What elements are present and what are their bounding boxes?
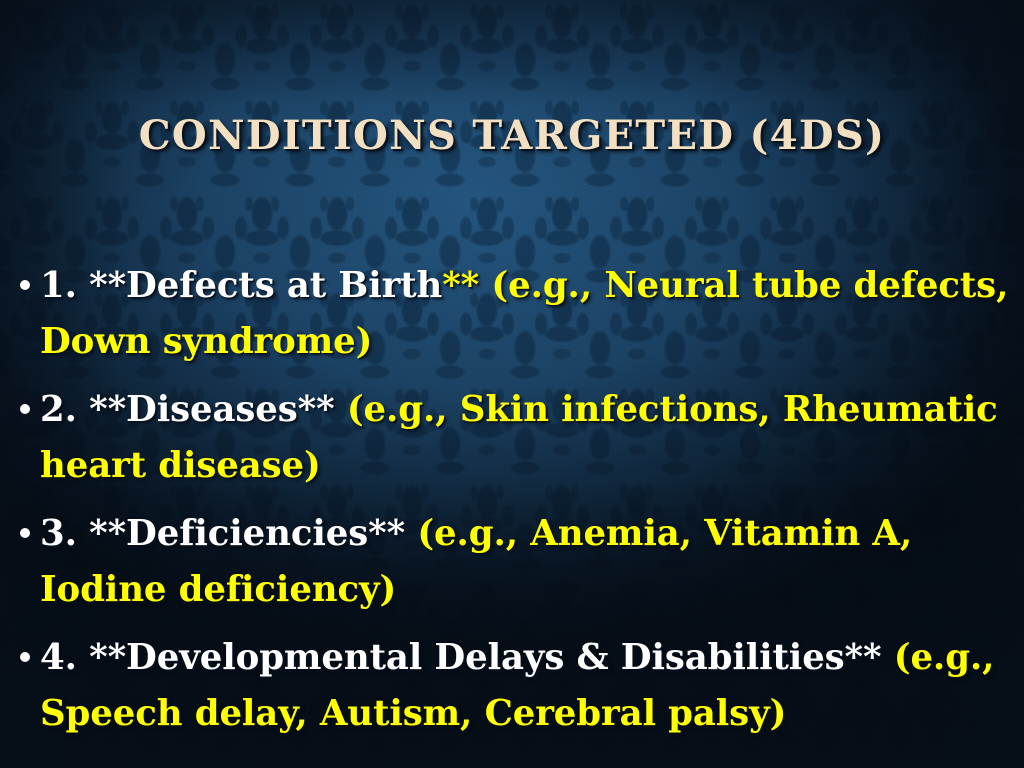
list-item: 3. **Deficiencies** (e.g., Anemia, Vitam… bbox=[10, 506, 1020, 618]
list-item: 2. **Diseases** (e.g., Skin infections, … bbox=[10, 382, 1020, 494]
bullet-list: 1. **Defects at Birth** (e.g., Neural tu… bbox=[10, 258, 1020, 754]
bullet-bold-text: 2. **Diseases** bbox=[40, 389, 347, 430]
presentation-slide: CONDITIONS TARGETED (4DS) 1. **Defects a… bbox=[0, 0, 1024, 768]
bullet-bold-text: 4. **Developmental Delays & Disabilities… bbox=[40, 637, 894, 678]
bullet-bold-text: 1. **Defects at Birth bbox=[40, 265, 442, 306]
bullet-marker-icon bbox=[20, 652, 30, 662]
bullet-marker-icon bbox=[20, 404, 30, 414]
bullet-marker-icon bbox=[20, 528, 30, 538]
slide-content: CONDITIONS TARGETED (4DS) 1. **Defects a… bbox=[0, 0, 1024, 768]
list-item: 4. **Developmental Delays & Disabilities… bbox=[10, 630, 1020, 742]
bullet-bold-text: 3. **Deficiencies** bbox=[40, 513, 417, 554]
list-item: 1. **Defects at Birth** (e.g., Neural tu… bbox=[10, 258, 1020, 370]
slide-title: CONDITIONS TARGETED (4DS) bbox=[0, 112, 1024, 159]
bullet-marker-icon bbox=[20, 280, 30, 290]
